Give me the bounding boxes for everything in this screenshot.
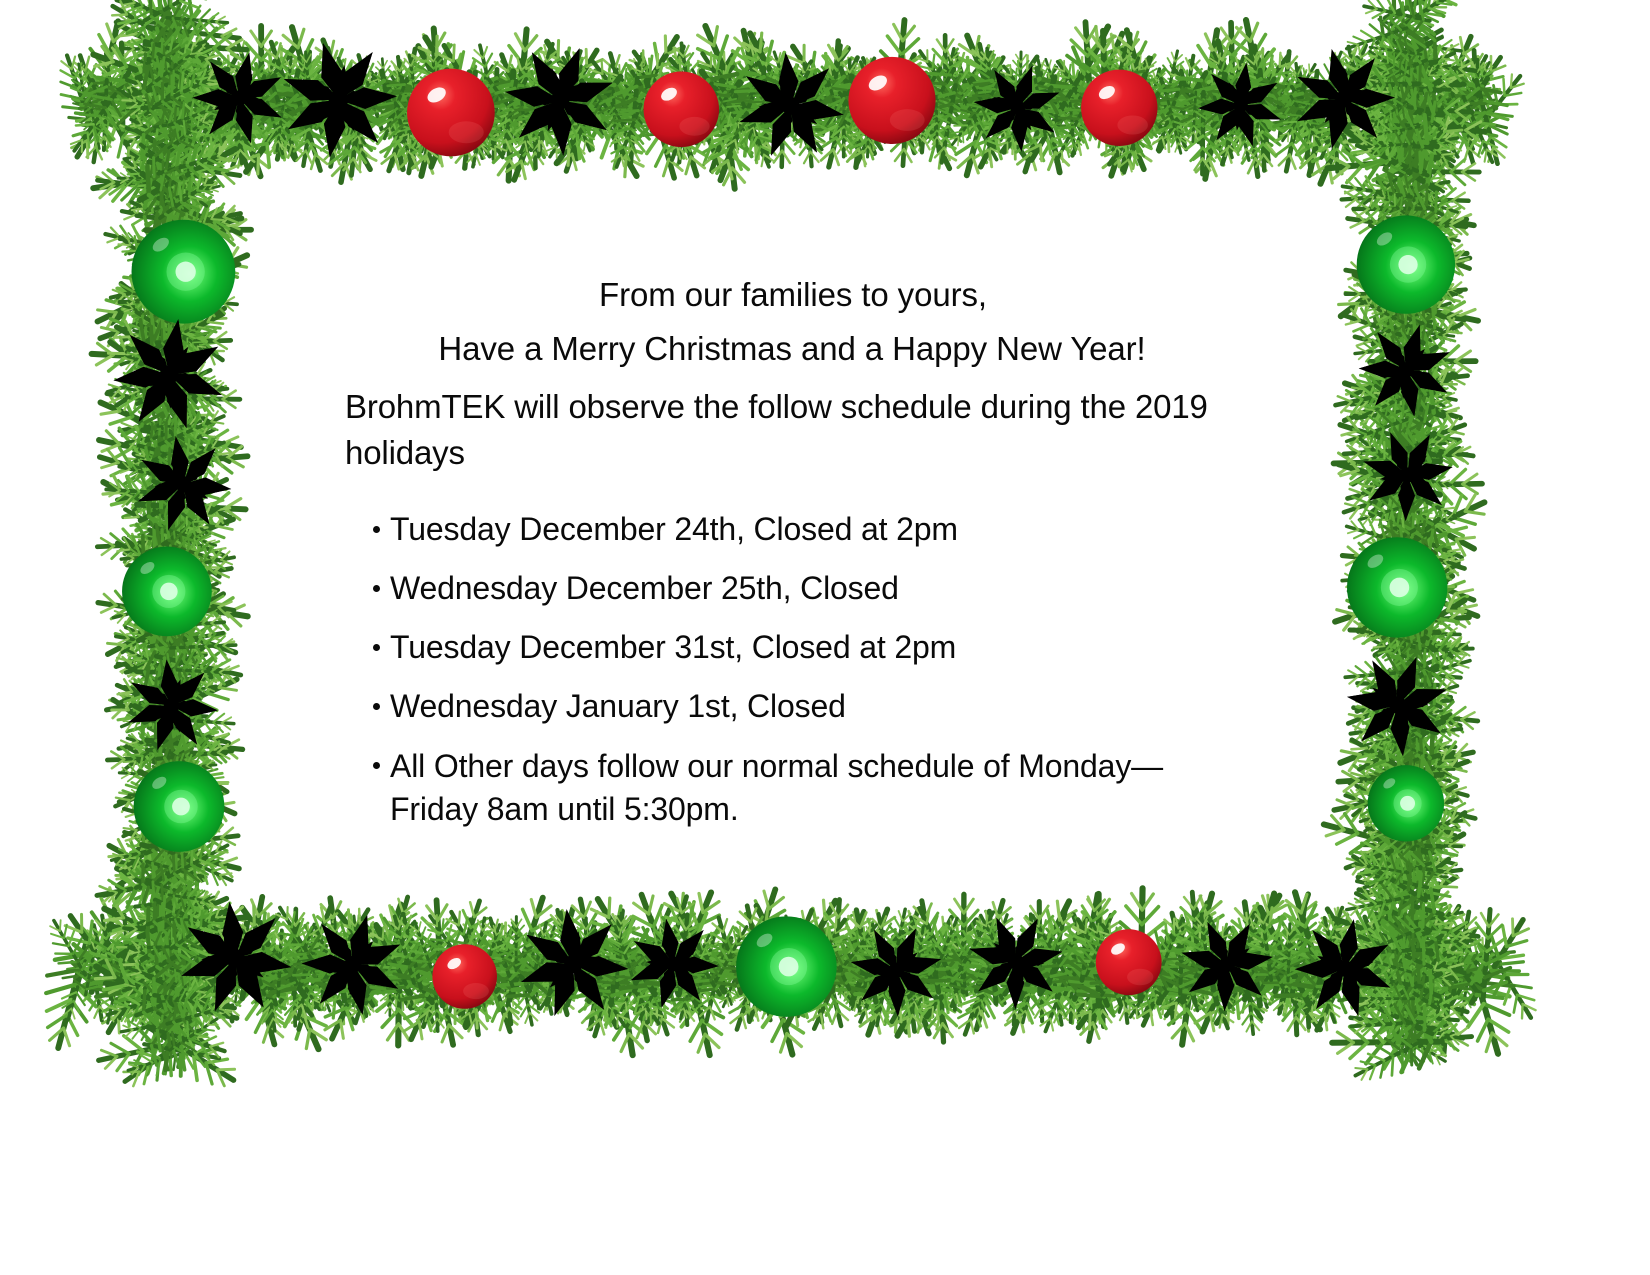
greeting-line-1: From our families to yours, [345, 268, 1235, 322]
schedule-item-label: All Other days follow our normal schedul… [390, 748, 1163, 827]
schedule-item: Wednesday December 25th, Closed [345, 568, 1235, 608]
red-ball [644, 72, 720, 148]
red-ball [432, 944, 497, 1009]
green-ball [736, 916, 837, 1017]
green-ball [1357, 215, 1455, 313]
greeting-line-2: Have a Merry Christmas and a Happy New Y… [345, 322, 1235, 376]
green-ball [132, 220, 236, 324]
red-ball [848, 57, 935, 144]
red-ball [407, 69, 495, 157]
schedule-intro: BrohmTEK will observe the follow schedul… [345, 384, 1235, 476]
schedule-item-label: Tuesday December 31st, Closed at 2pm [390, 629, 956, 665]
green-ball [1368, 765, 1444, 841]
bullet-icon [373, 526, 380, 533]
schedule-item: Tuesday December 24th, Closed at 2pm [345, 509, 1235, 549]
bullet-icon [373, 585, 380, 592]
schedule-item: All Other days follow our normal schedul… [345, 745, 1235, 831]
bullet-icon [373, 762, 380, 769]
schedule-item-label: Wednesday January 1st, Closed [390, 688, 846, 724]
holiday-message: From our families to yours, Have a Merry… [345, 268, 1235, 831]
green-ball [1347, 537, 1447, 637]
schedule-item: Tuesday December 31st, Closed at 2pm [345, 627, 1235, 667]
schedule-item: Wednesday January 1st, Closed [345, 686, 1235, 726]
holiday-notice-poster: .gold .p { fill: url(#gGoldPetal); } .go… [0, 0, 1650, 1275]
bullet-icon [373, 644, 380, 651]
red-ball [1081, 70, 1157, 146]
green-ball [122, 547, 212, 637]
red-ball [1096, 929, 1162, 995]
schedule-item-label: Wednesday December 25th, Closed [390, 570, 899, 606]
bullet-icon [373, 703, 380, 710]
green-ball [134, 761, 225, 852]
holiday-schedule-list: Tuesday December 24th, Closed at 2pm Wed… [345, 509, 1235, 831]
schedule-item-label: Tuesday December 24th, Closed at 2pm [390, 511, 958, 547]
